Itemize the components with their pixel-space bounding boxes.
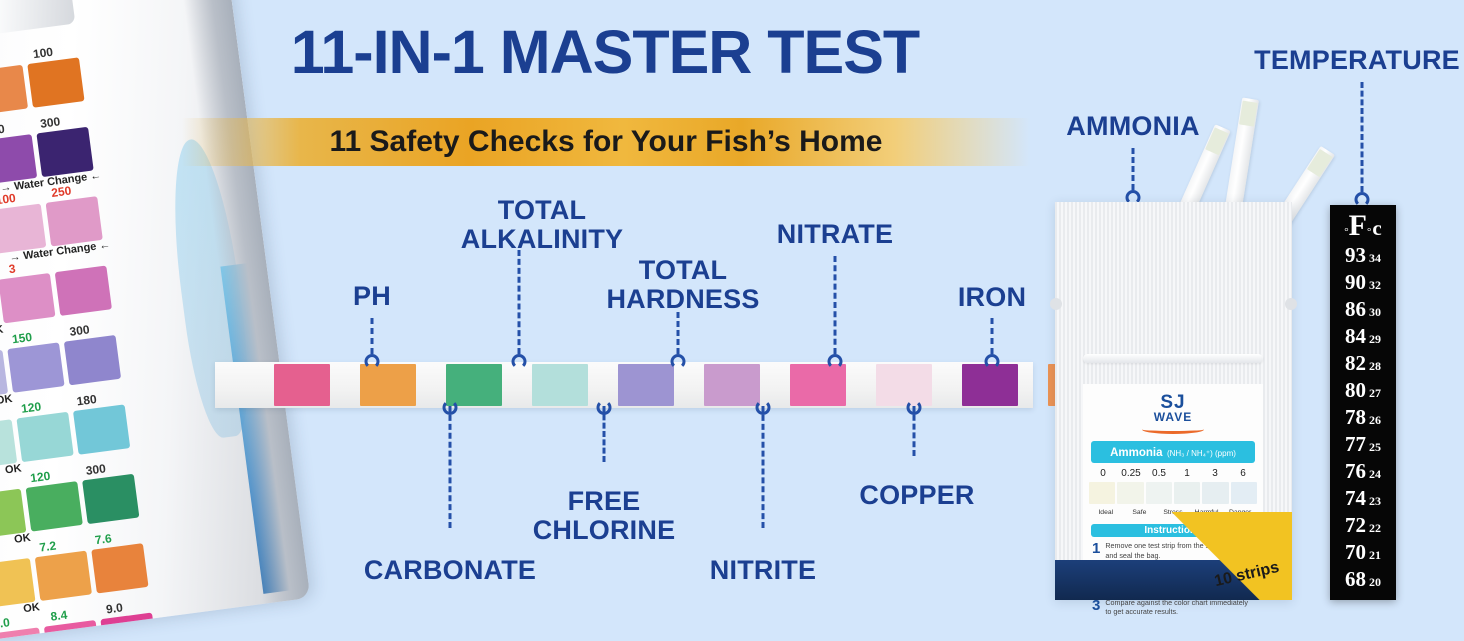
temp-fahrenheit: 90 xyxy=(1345,270,1366,295)
bottle-chart-tag: OK xyxy=(23,601,41,615)
callout-line-nitrite xyxy=(762,406,765,528)
temp-celsius: 23 xyxy=(1369,494,1381,509)
bottle-chart-tag: OK xyxy=(0,324,4,338)
callout-label-total-hardness: TOTAL HARDNESS xyxy=(606,256,759,314)
temperature-strip: ° F ° c 93349032863084298228802778267725… xyxy=(1330,205,1396,600)
callout-line-total-alkalinity xyxy=(518,250,521,354)
ammonia-title-main: Ammonia xyxy=(1110,447,1162,459)
brand-logo: SJ WAVE xyxy=(1083,384,1263,434)
bottle-chart-value: 150 xyxy=(11,330,33,346)
ammonia-swatch xyxy=(1117,482,1143,504)
temperature-row: 7725 xyxy=(1330,432,1396,459)
bottle-chart-swatch xyxy=(36,127,93,177)
ammonia-test-packet: SJ WAVE Ammonia (NH₃ / NH₄⁺) (ppm) 00.25… xyxy=(1055,202,1292,600)
temp-fahrenheit: 72 xyxy=(1345,513,1366,538)
thermometer-scale: 9334903286308429822880277826772576247423… xyxy=(1330,243,1396,594)
bottle-chart-value: 120 xyxy=(20,399,42,415)
bottle-chart-swatch xyxy=(91,543,148,593)
subtitle-banner: 11 Safety Checks for Your Fish’s Home xyxy=(182,118,1030,166)
ammonia-value: 6 xyxy=(1229,468,1257,479)
unit-celsius: c xyxy=(1372,216,1381,241)
bottle-chart-swatch xyxy=(7,342,64,392)
temperature-row: 7021 xyxy=(1330,540,1396,567)
test-pad-5 xyxy=(618,364,674,406)
temp-celsius: 25 xyxy=(1369,440,1381,455)
callout-label-nitrite: NITRITE xyxy=(710,556,816,585)
test-pad-2 xyxy=(360,364,416,406)
packet-notch-right xyxy=(1285,298,1297,310)
callout-hook-total-hardness xyxy=(671,354,686,369)
bottle-chart-swatch xyxy=(82,474,139,524)
bottle-chart-swatch xyxy=(0,273,55,323)
callout-label-ph: PH xyxy=(353,282,391,311)
step-text: Compare against the color chart immediat… xyxy=(1105,598,1254,617)
bottle-chart-value: 300 xyxy=(39,114,61,130)
temperature-row: 8228 xyxy=(1330,351,1396,378)
infographic-stage: 25501001002003002550100250→ Water Change… xyxy=(0,0,1464,600)
temp-fahrenheit: 74 xyxy=(1345,486,1366,511)
temp-celsius: 26 xyxy=(1369,413,1381,428)
step-number: 3 xyxy=(1092,598,1100,617)
test-pad-9 xyxy=(962,364,1018,406)
page-title: 11-IN-1 MASTER TEST xyxy=(190,20,1020,84)
temp-fahrenheit: 76 xyxy=(1345,459,1366,484)
temp-celsius: 34 xyxy=(1369,251,1381,266)
test-pad-7 xyxy=(790,364,846,406)
callout-label-copper: COPPER xyxy=(859,481,974,510)
callout-label-carbonate: CARBONATE xyxy=(364,556,536,585)
temperature-row: 8027 xyxy=(1330,378,1396,405)
ammonia-risk-label: Ideal xyxy=(1089,509,1123,516)
temp-fahrenheit: 84 xyxy=(1345,324,1366,349)
page-subtitle: 11 Safety Checks for Your Fish’s Home xyxy=(330,125,883,159)
temperature-row: 7222 xyxy=(1330,513,1396,540)
temp-fahrenheit: 82 xyxy=(1345,351,1366,376)
temp-celsius: 24 xyxy=(1369,467,1381,482)
bottle-chart-swatch xyxy=(0,489,26,539)
temperature-row: 7826 xyxy=(1330,405,1396,432)
ammonia-swatch xyxy=(1202,482,1228,504)
temp-fahrenheit: 77 xyxy=(1345,432,1366,457)
ammonia-value: 1 xyxy=(1173,468,1201,479)
temp-fahrenheit: 86 xyxy=(1345,297,1366,322)
callout-hook-total-alkalinity xyxy=(512,354,527,369)
callout-hook-iron xyxy=(985,354,1000,369)
bottle-chart-value: 200 xyxy=(0,122,5,138)
brand-swoosh-icon xyxy=(1142,425,1204,434)
temperature-row: 8630 xyxy=(1330,297,1396,324)
ammonia-value: 0.5 xyxy=(1145,468,1173,479)
temp-fahrenheit: 93 xyxy=(1345,243,1366,268)
callout-label-temperature: TEMPERATURE xyxy=(1254,46,1460,75)
temperature-row: 7423 xyxy=(1330,486,1396,513)
ammonia-swatch xyxy=(1146,482,1172,504)
callout-hook-copper xyxy=(907,400,922,415)
test-pad-4 xyxy=(532,364,588,406)
product-bottle: 25501001002003002550100250→ Water Change… xyxy=(0,0,310,641)
unit-fahrenheit: F xyxy=(1349,209,1367,243)
bottle-cap xyxy=(0,0,75,40)
bottle-chart-tag: OK xyxy=(13,532,31,546)
test-pad-3 xyxy=(446,364,502,406)
temperature-row: 9032 xyxy=(1330,270,1396,297)
callout-hook-carbonate xyxy=(443,400,458,415)
temp-celsius: 22 xyxy=(1369,521,1381,536)
callout-line-nitrate xyxy=(834,256,837,354)
bottle-chart-value: 120 xyxy=(29,469,51,485)
bottle-chart-swatch xyxy=(27,57,84,107)
bottle-chart-swatch xyxy=(73,404,130,454)
temp-fahrenheit: 70 xyxy=(1345,540,1366,565)
ammonia-value-row: 00.250.5136 xyxy=(1089,468,1257,479)
callout-hook-free-chlorine xyxy=(597,400,612,415)
instruction-step: 3Compare against the color chart immedia… xyxy=(1092,598,1254,617)
bottle-chart-swatch xyxy=(35,551,92,601)
temp-fahrenheit: 78 xyxy=(1345,405,1366,430)
temperature-row: 9334 xyxy=(1330,243,1396,270)
test-pad-8 xyxy=(876,364,932,406)
packet-zip-seal xyxy=(1083,354,1263,363)
test-pad-6 xyxy=(704,364,760,406)
ammonia-swatch-row xyxy=(1089,482,1257,504)
bottle-chart-swatch xyxy=(0,134,37,184)
brand-name-bottom: WAVE xyxy=(1083,410,1263,424)
temp-celsius: 30 xyxy=(1369,305,1381,320)
ammonia-value: 0 xyxy=(1089,468,1117,479)
temperature-row: 7624 xyxy=(1330,459,1396,486)
bottle-chart-swatch xyxy=(26,481,83,531)
bottle-chart-swatch xyxy=(0,65,28,115)
temp-celsius: 29 xyxy=(1369,332,1381,347)
bottle-chart-value: 180 xyxy=(76,392,98,408)
temp-fahrenheit: 80 xyxy=(1345,378,1366,403)
bottle-chart-value: 300 xyxy=(85,461,107,477)
bottle-chart-swatch xyxy=(16,412,73,462)
ammonia-swatch xyxy=(1089,482,1115,504)
bottle-chart-swatch xyxy=(46,196,103,246)
bottle-chart-swatch xyxy=(64,335,121,385)
test-pad-1 xyxy=(274,364,330,406)
bottle-chart-value: 100 xyxy=(32,45,54,61)
callout-label-free-chlorine: FREE CHLORINE xyxy=(533,487,676,545)
callout-hook-nitrate xyxy=(828,354,843,369)
temp-celsius: 20 xyxy=(1369,575,1381,590)
callout-label-iron: IRON xyxy=(958,283,1026,312)
callout-line-temperature xyxy=(1361,82,1364,192)
bottle-chart-value: 300 xyxy=(69,322,91,338)
callout-line-iron xyxy=(991,318,994,354)
ammonia-title-sub: (NH₃ / NH₄⁺) (ppm) xyxy=(1167,449,1236,458)
bottle-chart-value: 7.2 xyxy=(39,539,57,555)
temp-celsius: 28 xyxy=(1369,359,1381,374)
temperature-row: 8429 xyxy=(1330,324,1396,351)
ammonia-chart-title: Ammonia (NH₃ / NH₄⁺) (ppm) xyxy=(1091,441,1255,463)
callout-label-total-alkalinity: TOTAL ALKALINITY xyxy=(461,196,623,254)
ammonia-swatch xyxy=(1174,482,1200,504)
packet-notch-left xyxy=(1050,298,1062,310)
bottle-chart-value: 8.0 xyxy=(0,615,11,631)
temp-celsius: 21 xyxy=(1369,548,1381,563)
callout-line-total-hardness xyxy=(677,312,680,354)
callout-line-ph xyxy=(371,318,374,354)
ammonia-value: 3 xyxy=(1201,468,1229,479)
ammonia-value: 0.25 xyxy=(1117,468,1145,479)
callout-line-carbonate xyxy=(449,406,452,528)
degree-symbol-c: ° xyxy=(1367,226,1371,238)
bottle-chart-swatch xyxy=(55,266,112,316)
callout-hook-ph xyxy=(365,354,380,369)
bottle-chart-value: 8.4 xyxy=(50,608,68,624)
thermometer-units: ° F ° c xyxy=(1330,205,1396,243)
step-number: 1 xyxy=(1092,541,1100,560)
ammonia-swatch xyxy=(1231,482,1257,504)
bottle-chart-value: 7.6 xyxy=(94,531,112,547)
temp-celsius: 27 xyxy=(1369,386,1381,401)
callout-hook-nitrite xyxy=(756,400,771,415)
bottle-chart-swatch xyxy=(0,204,46,254)
temperature-row: 6820 xyxy=(1330,567,1396,594)
temp-fahrenheit: 68 xyxy=(1345,567,1366,592)
callout-label-nitrate: NITRATE xyxy=(777,220,893,249)
ammonia-risk-label: Safe xyxy=(1123,509,1157,516)
callout-line-ammonia xyxy=(1132,148,1135,190)
bottle-chart-swatch xyxy=(0,558,36,608)
bottle-chart-value: 9.0 xyxy=(105,600,123,616)
temp-celsius: 32 xyxy=(1369,278,1381,293)
bottle-chart-tag: OK xyxy=(4,462,22,476)
bottle-chart-tag: OK xyxy=(0,393,13,407)
